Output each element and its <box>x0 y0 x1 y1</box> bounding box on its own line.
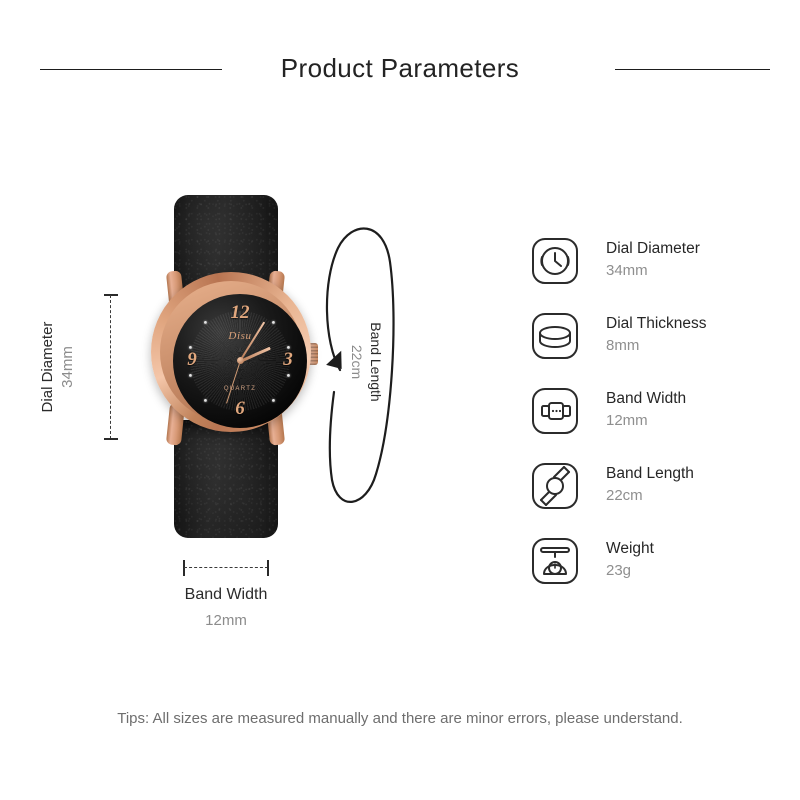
band-length-arrowhead <box>326 349 344 369</box>
spec-label: Band Length <box>606 463 786 485</box>
watch-strap-bottom <box>174 420 278 538</box>
spec-value: 22cm <box>606 485 786 507</box>
dial-marker <box>272 399 275 402</box>
spec-text: Dial Diameter 34mm <box>606 238 786 282</box>
dial-diameter-value: 34mm <box>58 293 78 441</box>
watch-dial: 12 3 6 9 Disu QUARTZ <box>173 294 307 428</box>
spec-row-dial-diameter: Dial Diameter 34mm <box>530 236 780 286</box>
dial-marker <box>272 321 275 324</box>
spec-text: Band Width 12mm <box>606 388 786 432</box>
footer-tip-text: Tips: All sizes are measured manually an… <box>0 710 800 727</box>
spec-row-weight: Weight 23g <box>530 536 780 586</box>
strap-leather-grain <box>174 420 278 538</box>
spec-text: Dial Thickness 8mm <box>606 313 786 357</box>
spec-value: 8mm <box>606 335 786 357</box>
watch-hand-pin <box>237 357 244 364</box>
disc-thickness-icon <box>530 311 580 361</box>
band-length-value: 22cm <box>347 297 366 427</box>
spec-row-band-width: Band Width 12mm <box>530 386 780 436</box>
measure-cap <box>104 294 118 296</box>
watch-bezel: 12 3 6 9 Disu QUARTZ <box>160 281 302 423</box>
dial-marker <box>287 374 290 377</box>
measure-dashed-line <box>110 295 111 439</box>
spec-list: Dial Diameter 34mm Dial Thickness 8mm <box>530 236 780 611</box>
spec-value: 12mm <box>606 410 786 432</box>
measure-dashed-line <box>184 567 268 568</box>
band-length-icon <box>530 461 580 511</box>
dial-numeral-6: 6 <box>227 398 253 420</box>
dial-diameter-measure-line <box>104 293 118 441</box>
spec-label: Weight <box>606 538 786 560</box>
watch-case: 12 3 6 9 Disu QUARTZ <box>151 272 311 432</box>
watch-product-illustration: 12 3 6 9 Disu QUARTZ <box>120 175 340 550</box>
spec-label: Band Width <box>606 388 786 410</box>
dial-numeral-12: 12 <box>227 302 253 324</box>
band-length-label: Band Length <box>366 297 385 427</box>
band-length-loop-figure: Band Length 22cm <box>318 222 398 522</box>
dial-numeral-3: 3 <box>275 349 301 371</box>
spec-row-dial-thickness: Dial Thickness 8mm <box>530 311 780 361</box>
measure-cap <box>183 560 185 576</box>
band-width-measure-line <box>182 560 270 576</box>
spec-label: Dial Thickness <box>606 313 786 335</box>
page-header: Product Parameters <box>0 48 800 92</box>
dial-marker <box>204 399 207 402</box>
spec-text: Band Length 22cm <box>606 463 786 507</box>
measure-cap <box>104 438 118 440</box>
watch-dial-icon <box>530 236 580 286</box>
spec-value: 23g <box>606 560 786 582</box>
measure-cap <box>267 560 269 576</box>
dial-movement-text: QUARTZ <box>173 386 307 392</box>
header-rule-right <box>615 69 770 70</box>
kitchen-scale-icon <box>530 536 580 586</box>
spec-row-band-length: Band Length 22cm <box>530 461 780 511</box>
spec-label: Dial Diameter <box>606 238 786 260</box>
dial-diameter-label: Dial Diameter <box>38 293 58 441</box>
dial-brand-logo: Disu <box>173 330 307 342</box>
band-width-value: 12mm <box>146 612 306 629</box>
spec-text: Weight 23g <box>606 538 786 582</box>
dial-numeral-9: 9 <box>179 349 205 371</box>
band-width-icon <box>530 386 580 436</box>
page-title: Product Parameters <box>0 48 800 88</box>
band-width-label: Band Width <box>146 586 306 604</box>
band-length-label-group: Band Length 22cm <box>345 297 385 427</box>
spec-value: 34mm <box>606 260 786 282</box>
dial-diameter-label-group: Dial Diameter 34mm <box>38 293 78 441</box>
